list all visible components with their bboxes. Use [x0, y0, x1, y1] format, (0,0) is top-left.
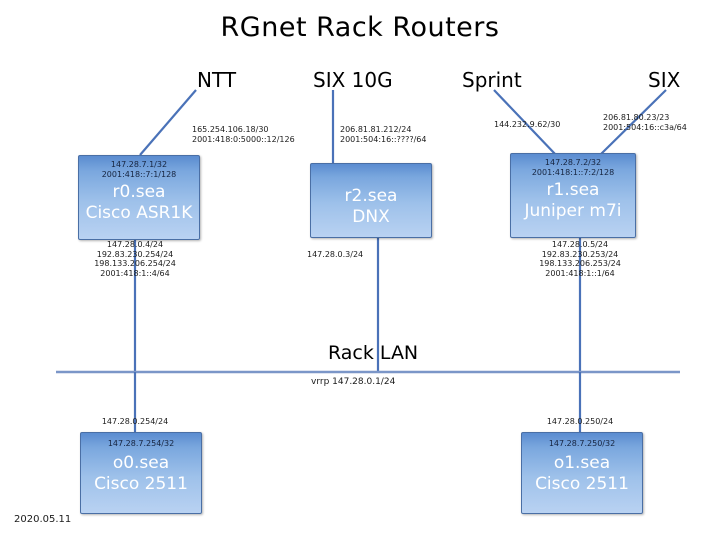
link-ntt-r0	[140, 90, 196, 155]
lan-addr-o0-0: 147.28.0.254/24	[60, 417, 210, 427]
router-r1-name: r1.sea	[547, 180, 600, 201]
console-o0-name: o0.sea	[113, 453, 169, 474]
uplink-addr-six10g-v4: 206.81.81.212/24	[340, 125, 426, 135]
router-r0-name: r0.sea	[113, 182, 166, 203]
router-r1-loopback-v4: 147.28.7.2/32	[545, 158, 601, 168]
diagram-canvas: RGnet Rack Routers NTT SIX 10G Sprint SI…	[0, 0, 720, 540]
provider-label-six10g: SIX 10G	[313, 68, 393, 92]
lan-addr-r1-0: 147.28.0.5/24	[505, 240, 655, 250]
router-r0-loopback-v6: 2001:418::7:1/128	[102, 170, 177, 180]
console-node-o1[interactable]: 147.28.7.250/32 o1.sea Cisco 2511	[521, 432, 643, 514]
provider-label-six: SIX	[648, 68, 680, 92]
lan-addr-r0-3: 2001:418:1::4/64	[60, 269, 210, 279]
lan-addr-r0: 147.28.0.4/24 192.83.230.254/24 198.133.…	[60, 240, 210, 278]
console-o1-loopback-v4: 147.28.7.250/32	[549, 439, 615, 449]
router-node-r0[interactable]: 147.28.7.1/32 2001:418::7:1/128 r0.sea C…	[78, 155, 200, 240]
lan-addr-r1: 147.28.0.5/24 192.83.230.253/24 198.133.…	[505, 240, 655, 278]
uplink-addr-ntt-v6: 2001:418:0:5000::12/126	[192, 135, 295, 145]
router-node-r2[interactable]: r2.sea DNX	[310, 163, 432, 238]
console-o1-model: Cisco 2511	[535, 474, 629, 495]
console-o0-loopback-v4: 147.28.7.254/32	[108, 439, 174, 449]
router-r1-model: Juniper m7i	[524, 201, 621, 222]
router-r2-model: DNX	[352, 207, 389, 228]
uplink-addr-sprint: 144.232.9.62/30	[494, 120, 560, 130]
rack-lan-vrrp-label: vrrp 147.28.0.1/24	[311, 377, 395, 387]
lan-addr-r0-2: 198.133.206.254/24	[60, 259, 210, 269]
lan-addr-r1-1: 192.83.230.253/24	[505, 250, 655, 260]
console-o1-name: o1.sea	[554, 453, 610, 474]
provider-label-sprint: Sprint	[462, 68, 522, 92]
router-r2-name: r2.sea	[345, 186, 398, 207]
router-r1-loopback-v6: 2001:418:1::7:2/128	[532, 168, 614, 178]
console-o0-model: Cisco 2511	[94, 474, 188, 495]
router-r0-model: Cisco ASR1K	[86, 203, 193, 224]
lan-addr-r0-0: 147.28.0.4/24	[60, 240, 210, 250]
uplink-addr-six: 206.81.80.23/23 2001:504:16::c3a/64	[603, 113, 687, 132]
console-node-o0[interactable]: 147.28.7.254/32 o0.sea Cisco 2511	[80, 432, 202, 514]
uplink-addr-six10g-v6: 2001:504:16::????/64	[340, 135, 426, 145]
lan-addr-r0-1: 192.83.230.254/24	[60, 250, 210, 260]
uplink-addr-ntt: 165.254.106.18/30 2001:418:0:5000::12/12…	[192, 125, 295, 144]
page-title: RGnet Rack Routers	[0, 12, 720, 43]
lan-addr-r1-2: 198.133.206.253/24	[505, 259, 655, 269]
uplink-addr-sprint-v4: 144.232.9.62/30	[494, 120, 560, 130]
rack-lan-label: Rack LAN	[328, 342, 418, 364]
uplink-addr-six10g: 206.81.81.212/24 2001:504:16::????/64	[340, 125, 426, 144]
lan-addr-o1-0: 147.28.0.250/24	[505, 417, 655, 427]
lan-addr-r1-3: 2001:418:1::1/64	[505, 269, 655, 279]
footer-date: 2020.05.11	[14, 514, 71, 525]
uplink-addr-six-v4: 206.81.80.23/23	[603, 113, 687, 123]
lan-addr-r2: 147.28.0.3/24	[307, 250, 363, 260]
lan-addr-r2-0: 147.28.0.3/24	[307, 250, 363, 260]
lan-addr-o0: 147.28.0.254/24	[60, 417, 210, 427]
router-r0-loopback-v4: 147.28.7.1/32	[111, 160, 167, 170]
lan-addr-o1: 147.28.0.250/24	[505, 417, 655, 427]
router-node-r1[interactable]: 147.28.7.2/32 2001:418:1::7:2/128 r1.sea…	[510, 153, 636, 238]
uplink-addr-ntt-v4: 165.254.106.18/30	[192, 125, 295, 135]
provider-label-ntt: NTT	[197, 68, 236, 92]
uplink-addr-six-v6: 2001:504:16::c3a/64	[603, 123, 687, 133]
